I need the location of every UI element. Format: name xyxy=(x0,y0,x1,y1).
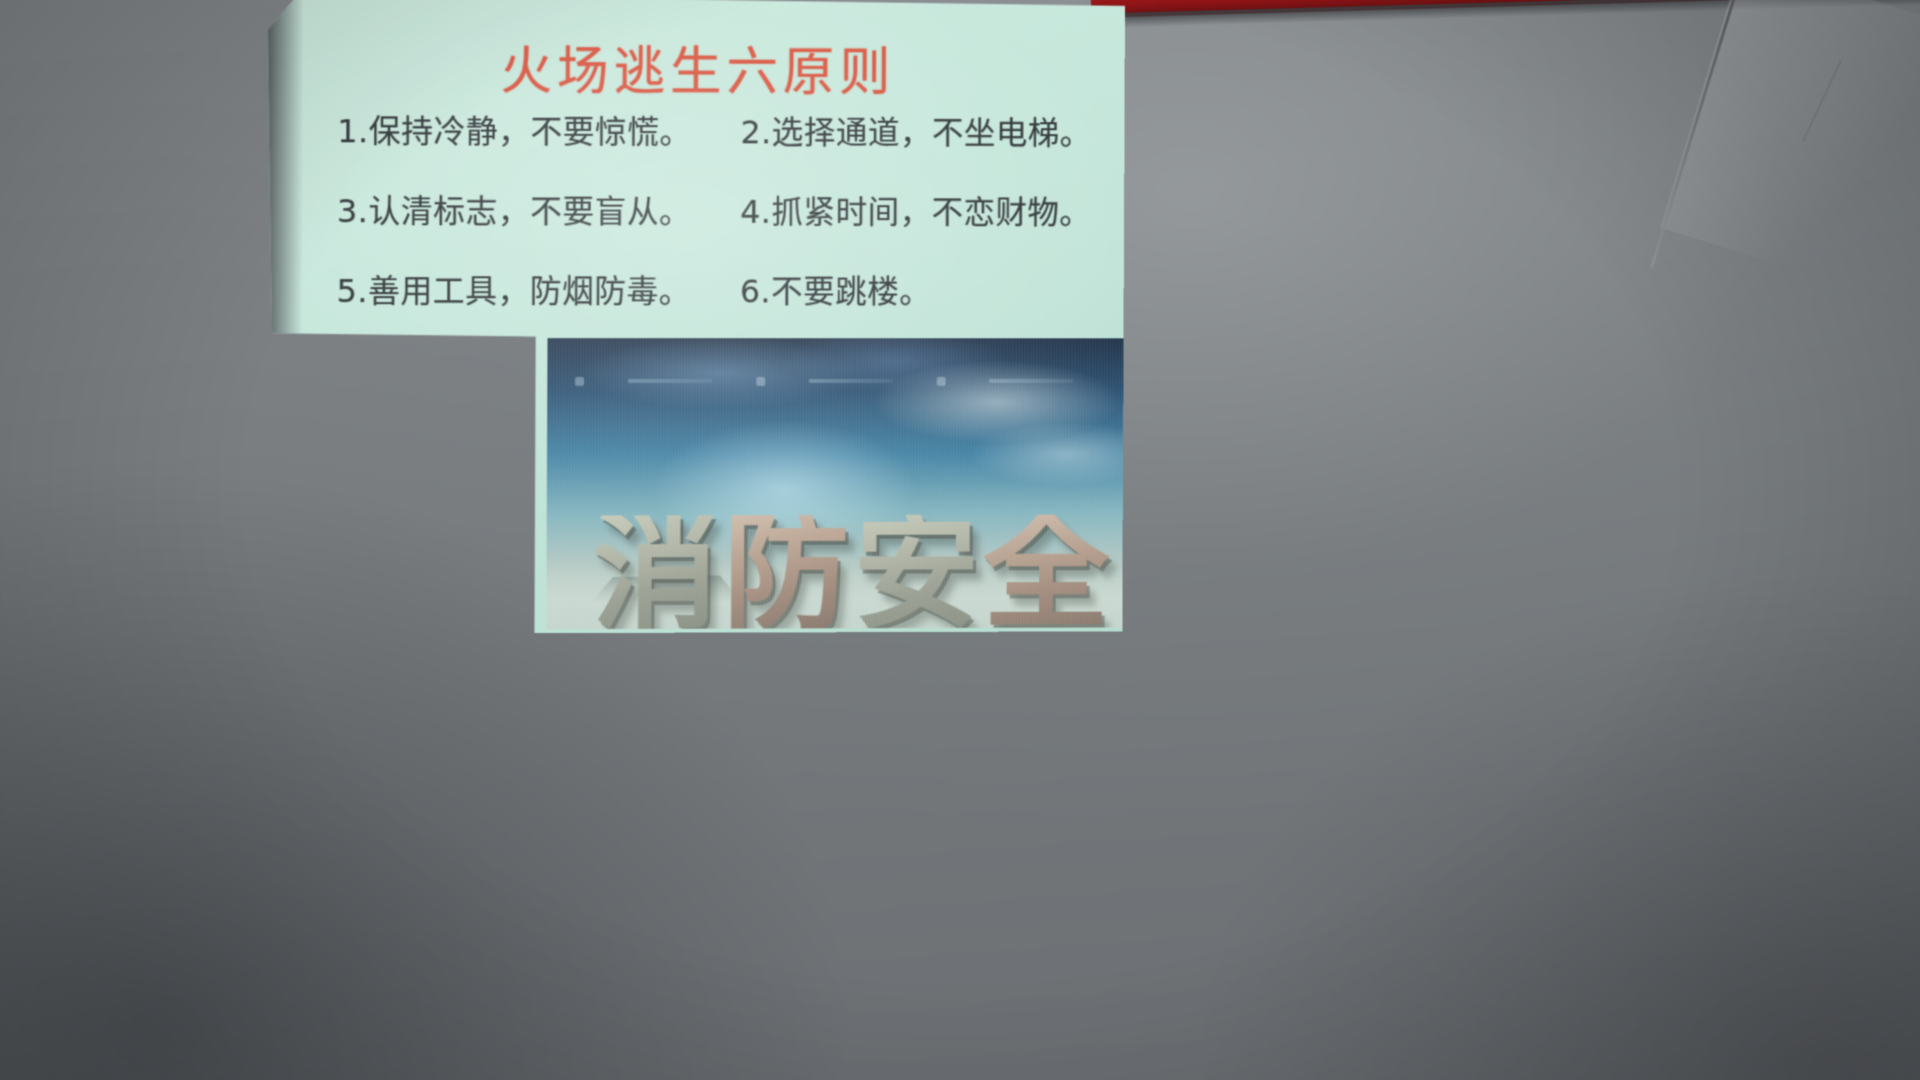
room-scene: 火场逃生六原则 1.保持冷静，不要惊慌。 2.选择通道，不坐电梯。 3.认清标志… xyxy=(0,0,1920,1080)
camera-vignette xyxy=(0,0,1920,1080)
